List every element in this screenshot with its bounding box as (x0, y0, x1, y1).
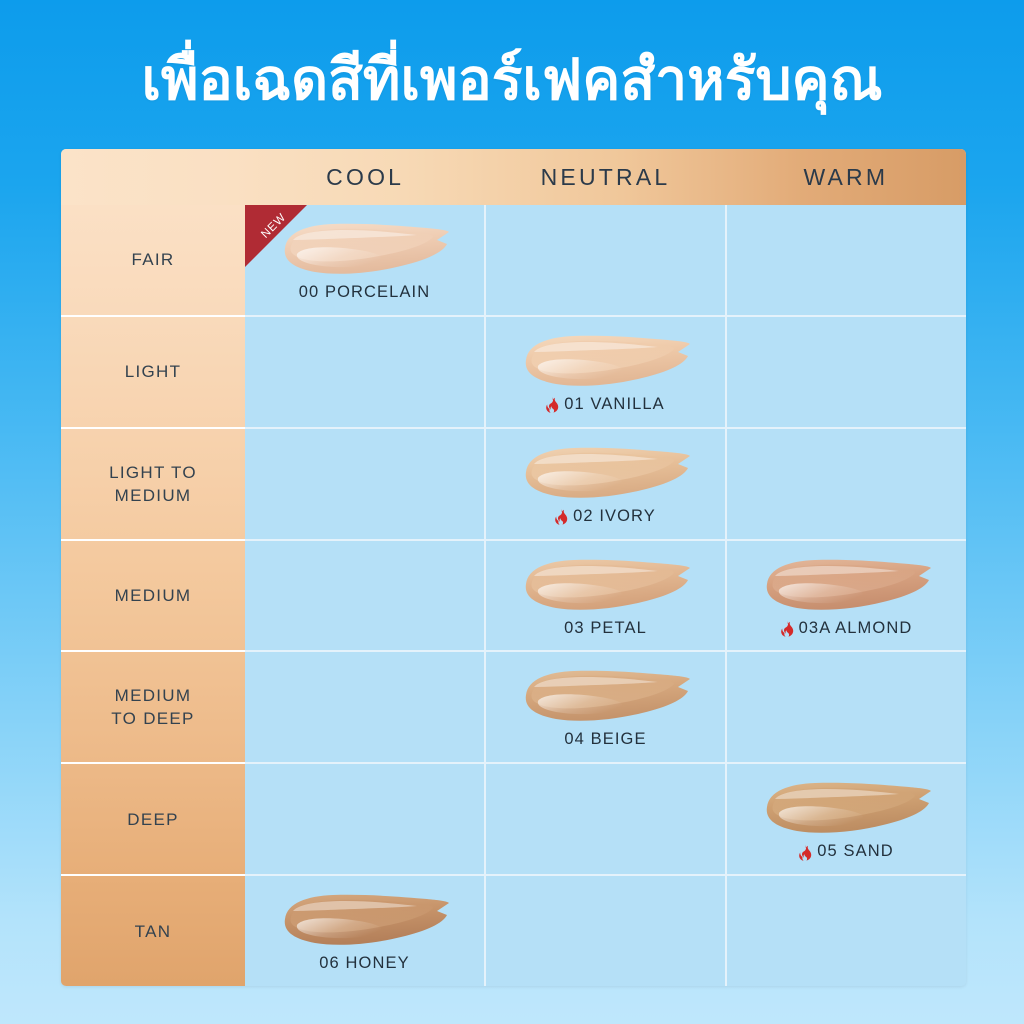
empty-cell-warm (727, 205, 966, 315)
table-row: 04 BEIGE (245, 652, 966, 764)
swatch-03a-almond (759, 554, 935, 616)
table-row: 02 IVORY (245, 429, 966, 541)
shade-cell-02-ivory[interactable]: 02 IVORY (486, 429, 727, 539)
column-header-neutral: NEUTRAL (485, 149, 725, 205)
row-label-text: MEDIUM (115, 584, 192, 607)
swatch-03-petal (518, 554, 694, 616)
shade-name-text: 02 IVORY (573, 507, 656, 526)
shade-cell-03a-almond[interactable]: 03A ALMOND (727, 541, 966, 651)
row-label-text: MEDIUMTO DEEP (111, 684, 194, 730)
table-header-row: COOL NEUTRAL WARM (61, 149, 966, 205)
shade-cell-01-vanilla[interactable]: 01 VANILLA (486, 317, 727, 427)
flame-icon (555, 509, 568, 525)
row-label-light-to-medium: LIGHT TOMEDIUM (61, 429, 245, 541)
table-row: 05 SAND (245, 764, 966, 876)
swatch-image (518, 330, 694, 392)
row-label-light: LIGHT (61, 317, 245, 429)
shade-label-06-honey: 06 HONEY (319, 954, 409, 973)
table-row: 03 PETAL 03A ALMOND (245, 541, 966, 653)
shade-cell-00-porcelain[interactable]: 00 PORCELAINNEW (245, 205, 486, 315)
empty-cell-neutral (486, 764, 727, 874)
row-label-text: FAIR (132, 248, 175, 271)
shade-name-text: 05 SAND (817, 842, 893, 861)
shade-name-text: 04 BEIGE (564, 730, 646, 749)
shade-label-04-beige: 04 BEIGE (564, 730, 646, 749)
empty-cell-cool (245, 429, 486, 539)
shade-label-03-petal: 03 PETAL (564, 619, 647, 638)
table-row: 00 PORCELAINNEW (245, 205, 966, 317)
shade-cell-03-petal[interactable]: 03 PETAL (486, 541, 727, 651)
swatch-image (759, 777, 935, 839)
empty-cell-cool (245, 317, 486, 427)
column-header-warm: WARM (726, 149, 966, 205)
empty-cell-warm (727, 317, 966, 427)
shade-label-00-porcelain: 00 PORCELAIN (299, 283, 431, 302)
row-label-deep: DEEP (61, 764, 245, 876)
shade-name-text: 01 VANILLA (564, 395, 665, 414)
empty-cell-neutral (486, 876, 727, 986)
flame-icon (799, 845, 812, 861)
swatch-02-ivory (518, 442, 694, 504)
shade-grid: 00 PORCELAINNEW 01 VANILLA (245, 205, 966, 986)
shade-cell-04-beige[interactable]: 04 BEIGE (486, 652, 727, 762)
shade-label-05-sand: 05 SAND (799, 842, 893, 861)
row-label-text: LIGHT TOMEDIUM (109, 461, 197, 507)
flame-icon (546, 397, 559, 413)
swatch-image (518, 442, 694, 504)
row-label-text: TAN (135, 920, 172, 943)
row-label-fair: FAIR (61, 205, 245, 317)
page-title: เพื่อเฉดสีที่เพอร์เฟคสำหรับคุณ (0, 44, 1024, 116)
empty-cell-cool (245, 764, 486, 874)
empty-cell-neutral (486, 205, 727, 315)
row-label-medium-to-deep: MEDIUMTO DEEP (61, 652, 245, 764)
table-row: 06 HONEY (245, 876, 966, 986)
empty-cell-cool (245, 652, 486, 762)
row-label-text: LIGHT (125, 360, 182, 383)
shade-label-01-vanilla: 01 VANILLA (546, 395, 665, 414)
row-label-medium: MEDIUM (61, 541, 245, 653)
empty-cell-warm (727, 876, 966, 986)
shade-name-text: 00 PORCELAIN (299, 283, 431, 302)
swatch-06-honey (277, 889, 453, 951)
empty-cell-warm (727, 429, 966, 539)
flame-icon (781, 621, 794, 637)
header-corner-blank (61, 149, 245, 205)
swatch-image (518, 665, 694, 727)
row-label-text: DEEP (127, 808, 179, 831)
swatch-image (277, 218, 453, 280)
table-row: 01 VANILLA (245, 317, 966, 429)
shade-label-02-ivory: 02 IVORY (555, 507, 656, 526)
column-header-cool: COOL (245, 149, 485, 205)
table-body: FAIR LIGHT LIGHT TOMEDIUM MEDIUM MEDIUMT… (61, 205, 966, 986)
swatch-05-sand (759, 777, 935, 839)
empty-cell-warm (727, 652, 966, 762)
swatch-image (277, 889, 453, 951)
shade-name-text: 03A ALMOND (799, 619, 913, 638)
swatch-01-vanilla (518, 330, 694, 392)
swatch-00-porcelain (277, 218, 453, 280)
swatch-04-beige (518, 665, 694, 727)
shade-name-text: 03 PETAL (564, 619, 647, 638)
shade-label-03a-almond: 03A ALMOND (781, 619, 913, 638)
row-label-tan: TAN (61, 876, 245, 986)
shade-cell-06-honey[interactable]: 06 HONEY (245, 876, 486, 986)
row-label-column: FAIR LIGHT LIGHT TOMEDIUM MEDIUM MEDIUMT… (61, 205, 245, 986)
shade-cell-05-sand[interactable]: 05 SAND (727, 764, 966, 874)
shade-finder-table: COOL NEUTRAL WARM FAIR LIGHT LIGHT TOMED… (61, 149, 966, 986)
swatch-image (518, 554, 694, 616)
swatch-image (759, 554, 935, 616)
empty-cell-cool (245, 541, 486, 651)
shade-name-text: 06 HONEY (319, 954, 409, 973)
